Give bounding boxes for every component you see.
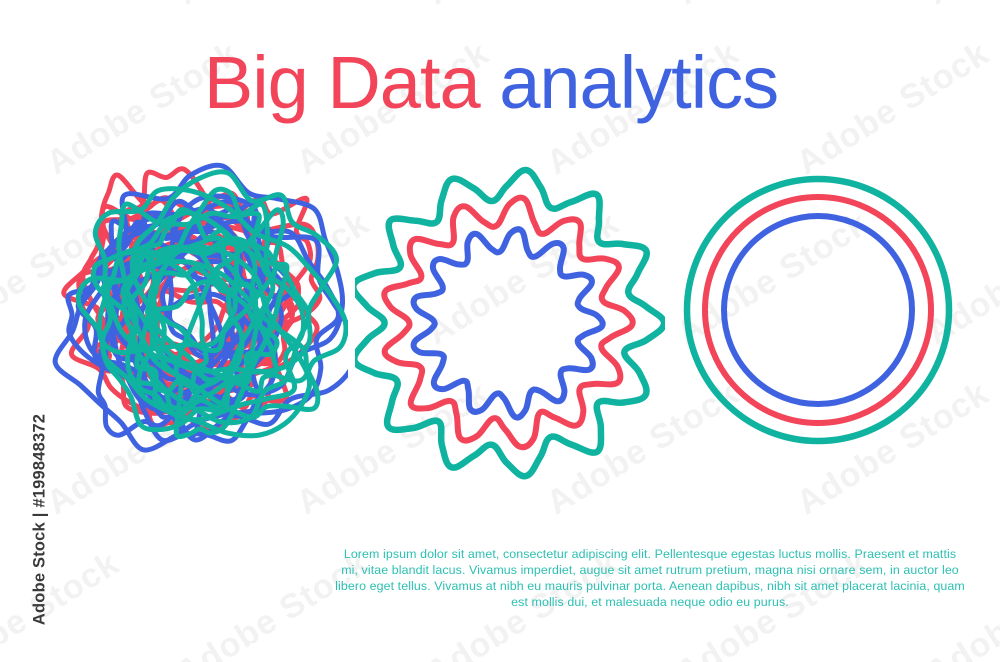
page-title-space xyxy=(480,41,500,124)
page-title-red-part: Big Data xyxy=(204,41,480,124)
wavy-contour-inner-blue xyxy=(414,229,603,417)
page-title-blue-part: analytics xyxy=(499,41,778,124)
background-watermark-word: Adobe Stock xyxy=(0,0,126,13)
stock-credit-watermark: Adobe Stock | #199848372 xyxy=(31,405,50,635)
concentric-rings-figure xyxy=(675,160,965,460)
background-watermark-word: Adobe Stock xyxy=(420,0,626,13)
background-watermark-word: Adobe Stock xyxy=(170,0,376,13)
body-paragraph: Lorem ipsum dolor sit amet, consectetur … xyxy=(335,546,965,610)
illustration-canvas: Adobe StockAdobe StockAdobe StockAdobe S… xyxy=(0,0,1000,662)
tangled-scribble-ball-figure xyxy=(48,160,348,480)
nested-wavy-contours-figure xyxy=(355,160,665,490)
figures-row xyxy=(0,160,1000,500)
background-watermark-word: Adobe Stock xyxy=(670,0,876,13)
ring-middle-red xyxy=(705,197,931,423)
background-watermark-word: Adobe Stock xyxy=(920,0,1000,13)
background-watermark-word: Adobe Stock xyxy=(0,544,126,662)
ring-inner-blue xyxy=(724,216,912,404)
page-title: Big Data analytics xyxy=(0,46,982,120)
